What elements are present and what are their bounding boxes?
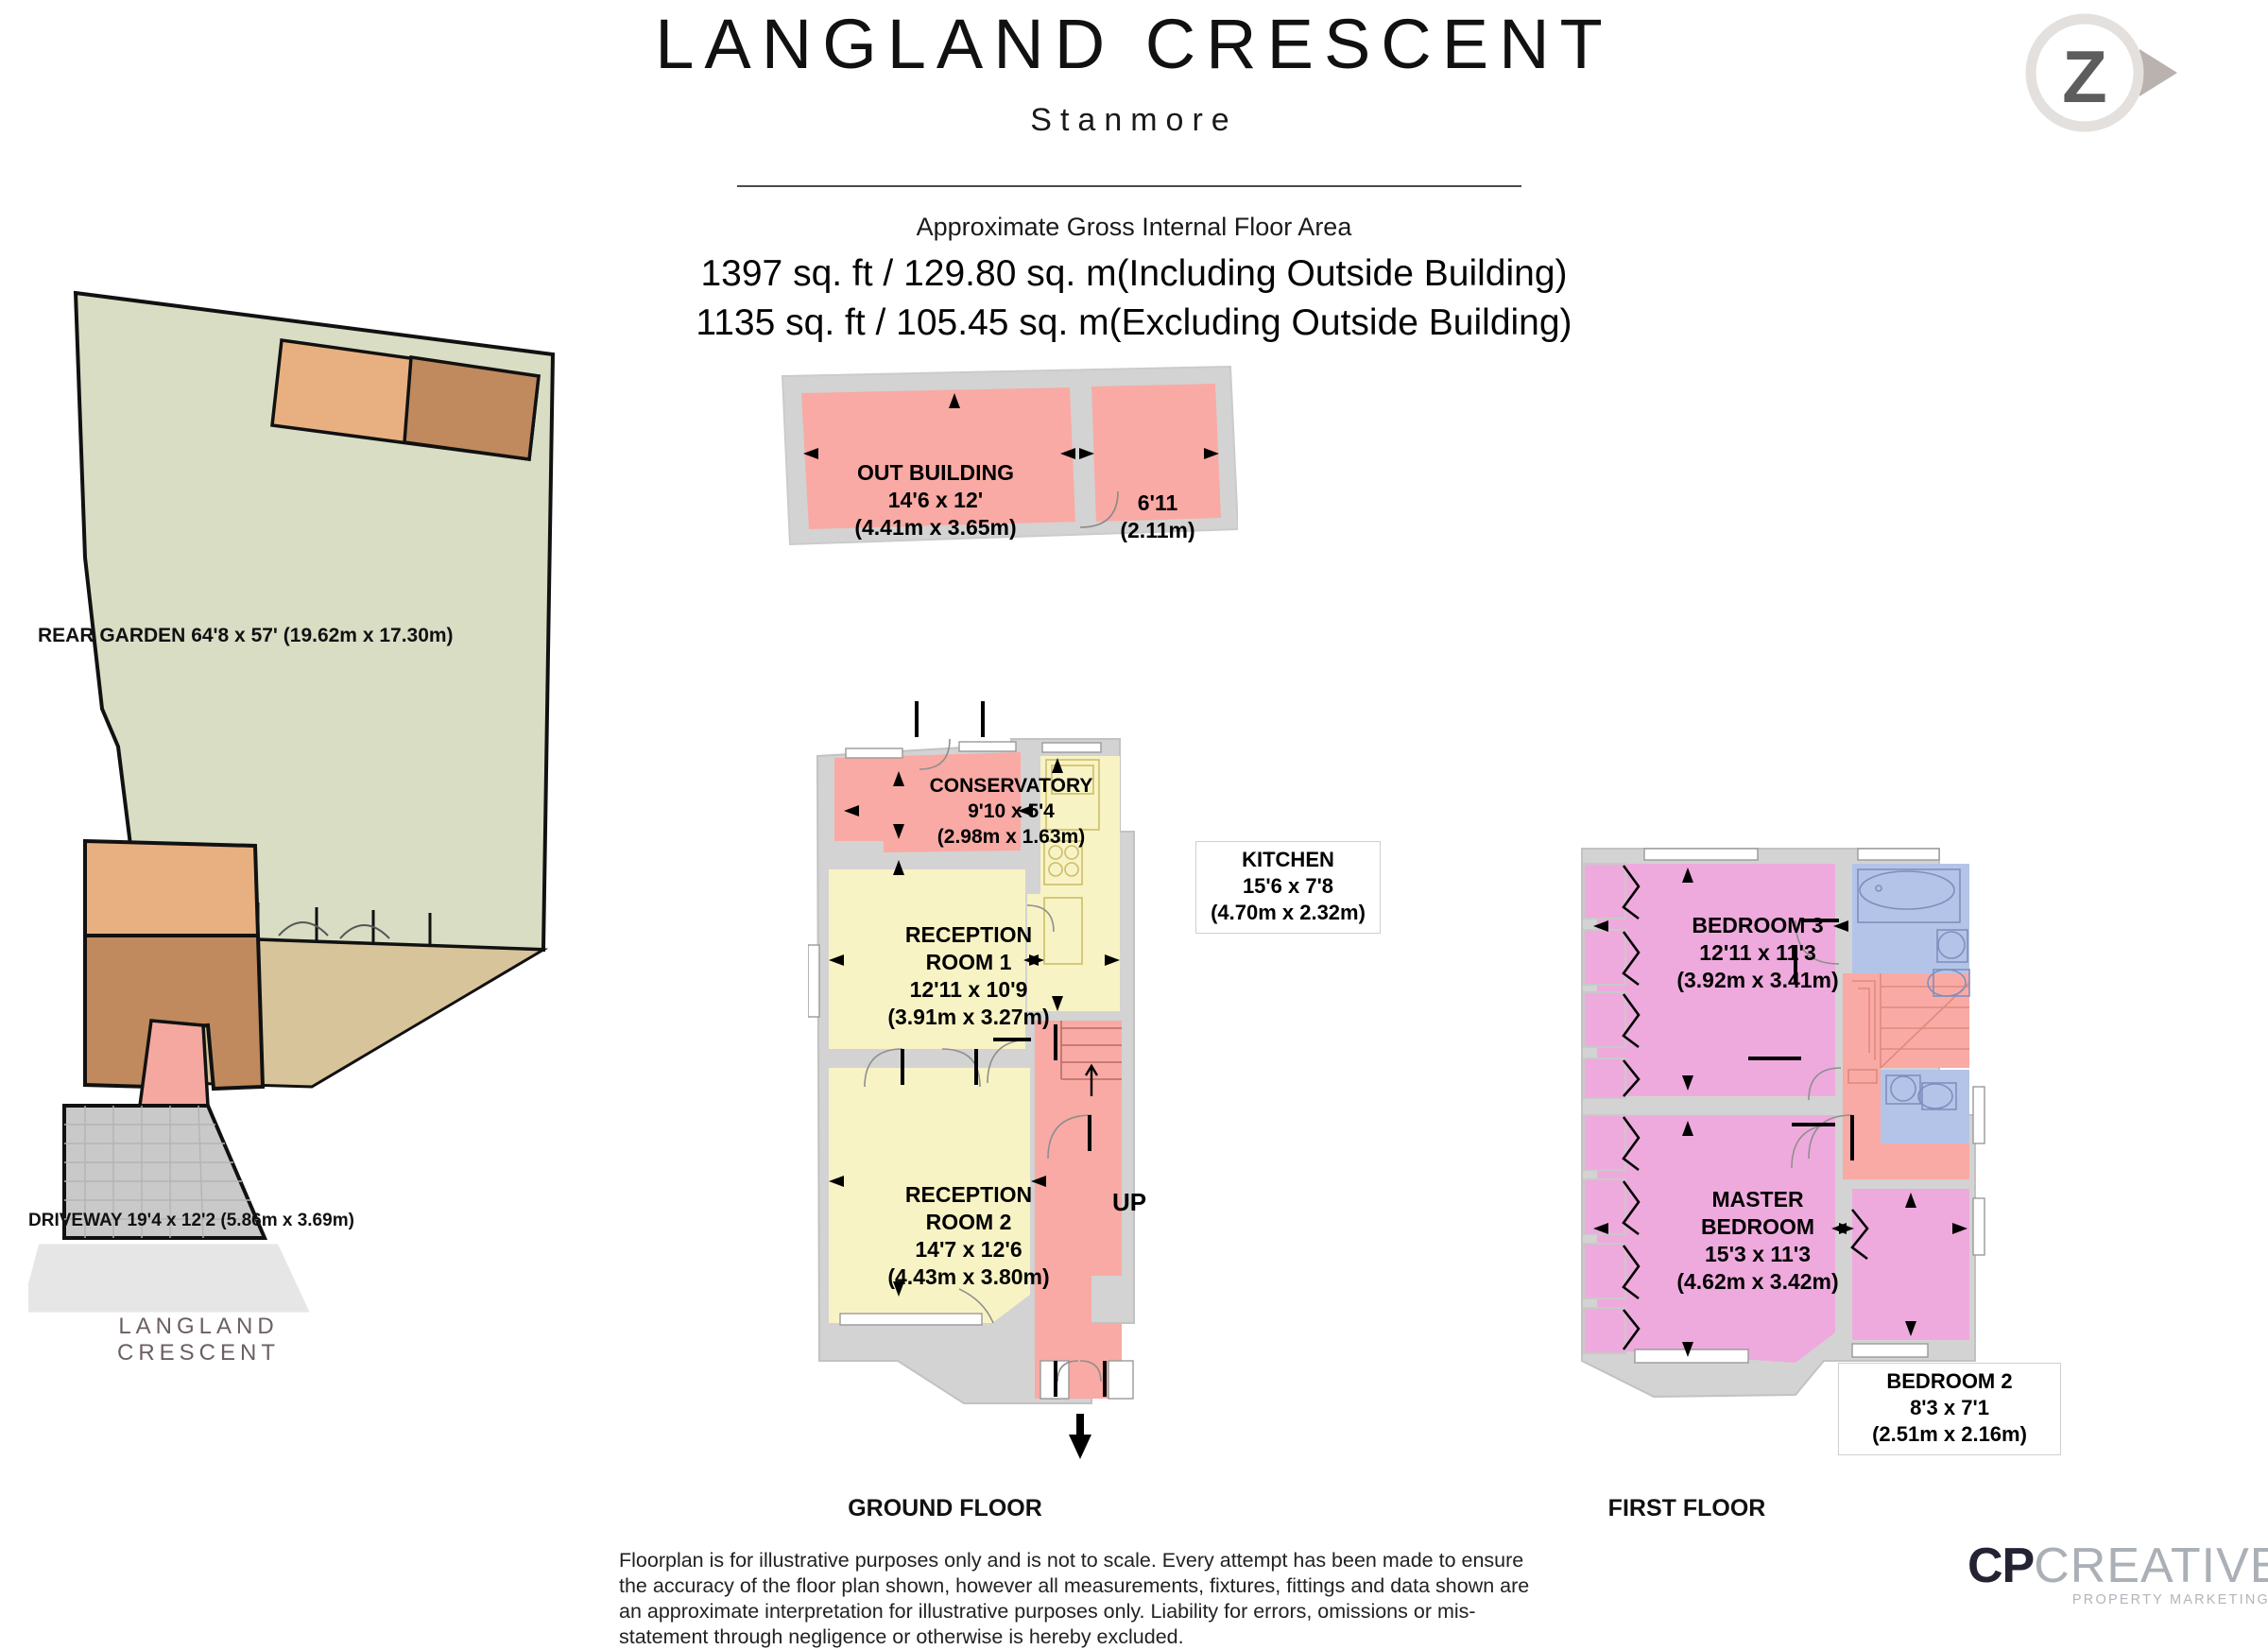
outbuilding-store-metric: (2.11m) [1077, 517, 1238, 544]
driveway-name: DRIVEWAY [28, 1211, 122, 1230]
kitchen-name: KITCHEN [1208, 847, 1368, 873]
cp-logo-dark-text: CP [1967, 1538, 2034, 1593]
plot-porch-shape [140, 1021, 208, 1106]
bedroom-2-imperial: 8'3 x 7'1 [1850, 1395, 2049, 1421]
bedroom-3-name: BEDROOM 3 [1625, 912, 1890, 939]
master-bedroom-name-line-2: BEDROOM [1625, 1213, 1890, 1241]
outbuilding-store-label: 6'11 (2.11m) [1077, 490, 1238, 544]
driveway-metric: (5.86m x 3.69m) [220, 1211, 354, 1230]
outbuilding-store-imperial: 6'11 [1077, 490, 1238, 517]
plot-outbuilding-roof [404, 357, 539, 459]
reception-2-imperial: 14'7 x 12'6 [836, 1236, 1101, 1263]
street-name-label: LANGLAND CRESCENT [38, 1314, 359, 1366]
reception-1-name-line-1: RECEPTION [836, 921, 1101, 949]
reception-2-name-line-2: ROOM 2 [836, 1209, 1101, 1236]
bedroom-3-metric: (3.92m x 3.41m) [1625, 967, 1890, 994]
master-bedroom-name-line-1: MASTER [1625, 1186, 1890, 1213]
reception-2-metric: (4.43m x 3.80m) [836, 1263, 1101, 1291]
outbuilding-imperial: 14'6 x 12' [784, 487, 1087, 514]
ground-floor-caption: GROUND FLOOR [784, 1495, 1106, 1522]
master-bedroom-metric: (4.62m x 3.42m) [1625, 1268, 1890, 1296]
stairs-up-label: UP [1087, 1189, 1172, 1216]
conservatory-imperial: 9'10 x 5'4 [879, 799, 1143, 824]
first-floor-caption: FIRST FLOOR [1526, 1495, 1847, 1522]
rear-garden-metric: (19.62m x 17.30m) [283, 625, 454, 646]
disclaimer-text: Floorplan is for illustrative purposes o… [619, 1548, 1555, 1650]
front-door-entry-arrow [1069, 1414, 1091, 1459]
reception-1-imperial: 12'11 x 10'9 [836, 976, 1101, 1004]
conservatory-label: CONSERVATORY 9'10 x 5'4 (2.98m x 1.63m) [879, 773, 1143, 850]
outbuilding-room-label: OUT BUILDING 14'6 x 12' (4.41m x 3.65m) [784, 459, 1087, 541]
kitchen-imperial: 15'6 x 7'8 [1208, 873, 1368, 900]
master-bedroom-imperial: 15'3 x 11'3 [1625, 1241, 1890, 1268]
page-title: LANGLAND CRESCENT [0, 4, 2268, 84]
outbuilding-name: OUT BUILDING [784, 459, 1087, 487]
master-bedroom-label: MASTER BEDROOM 15'3 x 11'3 (4.62m x 3.42… [1625, 1186, 1890, 1296]
outbuilding-metric: (4.41m x 3.65m) [784, 514, 1087, 541]
area-caption: Approximate Gross Internal Floor Area [0, 213, 2268, 242]
page-subtitle: Stanmore [0, 102, 2268, 139]
bedroom-2-metric: (2.51m x 2.16m) [1850, 1421, 2049, 1448]
kitchen-label: KITCHEN 15'6 x 7'8 (4.70m x 2.32m) [1195, 841, 1381, 934]
reception-2-label: RECEPTION ROOM 2 14'7 x 12'6 (4.43m x 3.… [836, 1181, 1101, 1291]
reception-2-name-line-1: RECEPTION [836, 1181, 1101, 1209]
conservatory-name: CONSERVATORY [879, 773, 1143, 799]
kitchen-metric: (4.70m x 2.32m) [1208, 900, 1368, 926]
reception-1-name-line-2: ROOM 1 [836, 949, 1101, 976]
bedroom-3-label: BEDROOM 3 12'11 x 11'3 (3.92m x 3.41m) [1625, 912, 1890, 994]
rear-garden-name: REAR GARDEN [38, 625, 185, 646]
rear-garden-imperial: 64'8 x 57' [191, 625, 278, 646]
bedroom-2-name: BEDROOM 2 [1850, 1368, 2049, 1395]
reception-1-metric: (3.91m x 3.27m) [836, 1004, 1101, 1031]
reception-1-label: RECEPTION ROOM 1 12'11 x 10'9 (3.91m x 3… [836, 921, 1101, 1031]
cp-logo-light-text: CREATIVE [2034, 1538, 2268, 1593]
cp-logo-tagline: PROPERTY MARKETING [1967, 1592, 2268, 1607]
driveway-imperial: 19'4 x 12'2 [128, 1211, 216, 1230]
site-plan [28, 274, 614, 1332]
rear-garden-label: REAR GARDEN 64'8 x 57' (19.62m x 17.30m) [38, 624, 435, 648]
street-band [28, 1243, 312, 1314]
bedroom-2-label: BEDROOM 2 8'3 x 7'1 (2.51m x 2.16m) [1838, 1363, 2061, 1455]
conservatory-metric: (2.98m x 1.63m) [879, 824, 1143, 850]
driveway-label: DRIVEWAY 19'4 x 12'2 (5.86m x 3.69m) [28, 1210, 302, 1232]
bedroom-3-imperial: 12'11 x 11'3 [1625, 939, 1890, 967]
cp-creative-logo: CPCREATIVE PROPERTY MARKETING [1967, 1540, 2268, 1622]
header-divider [737, 185, 1521, 187]
